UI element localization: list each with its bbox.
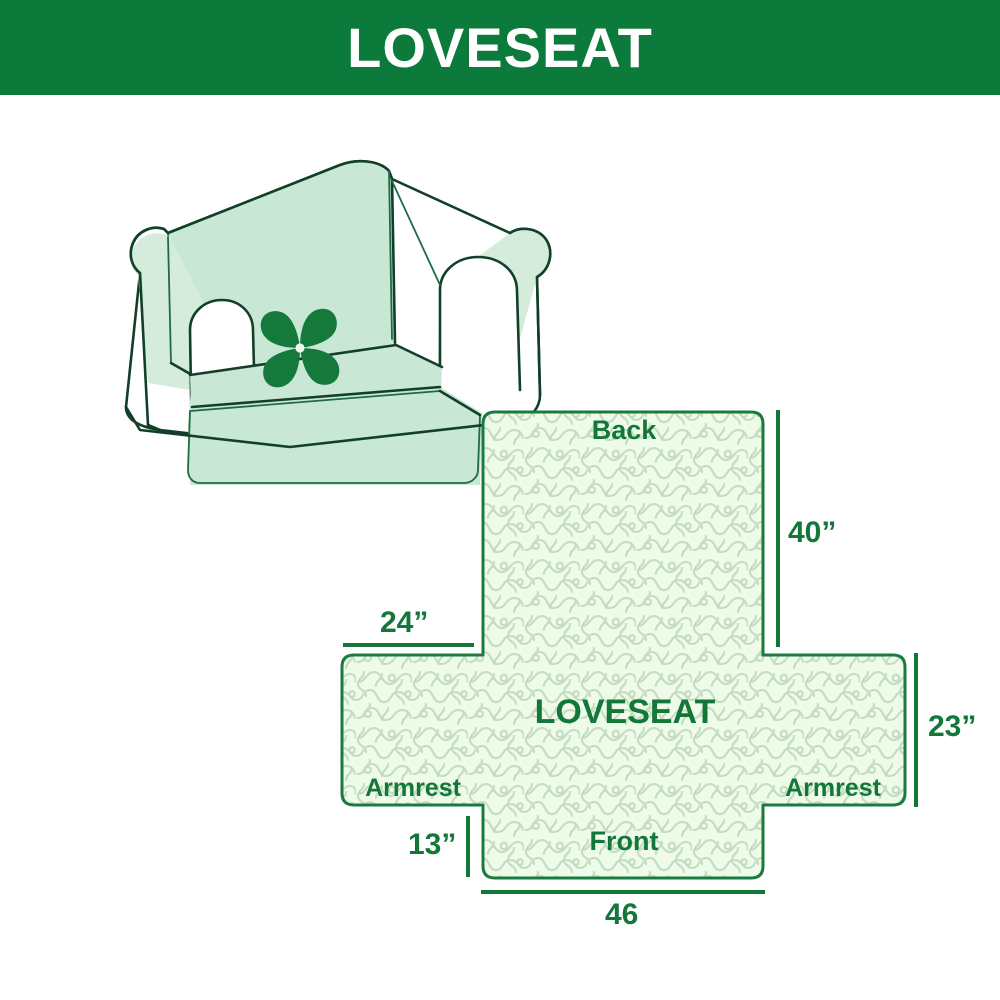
panel-label-armrest-left: Armrest [348,776,478,801]
panel-label-front: Front [564,828,684,855]
dimension-label-total-width: 46 [605,900,638,930]
panel-label-armrest-right: Armrest [768,776,898,801]
dimension-label-back-height: 40” [788,518,836,548]
panel-label-center: LOVESEAT [525,695,725,729]
dimension-label-front-drop: 13” [408,830,456,860]
dimension-label-back-width: 24” [380,608,428,638]
dimension-label-armrest-height: 23” [928,712,976,742]
panel-label-back: Back [564,417,684,444]
page-header: LOVESEAT [0,0,1000,95]
page-title: LOVESEAT [347,20,653,76]
flat-pattern-diagram: Back LOVESEAT Armrest Armrest Front 40” … [300,390,1000,930]
product-size-diagram: LOVESEAT .ol{fill:none;stroke:#123f28;st… [0,0,1000,1000]
